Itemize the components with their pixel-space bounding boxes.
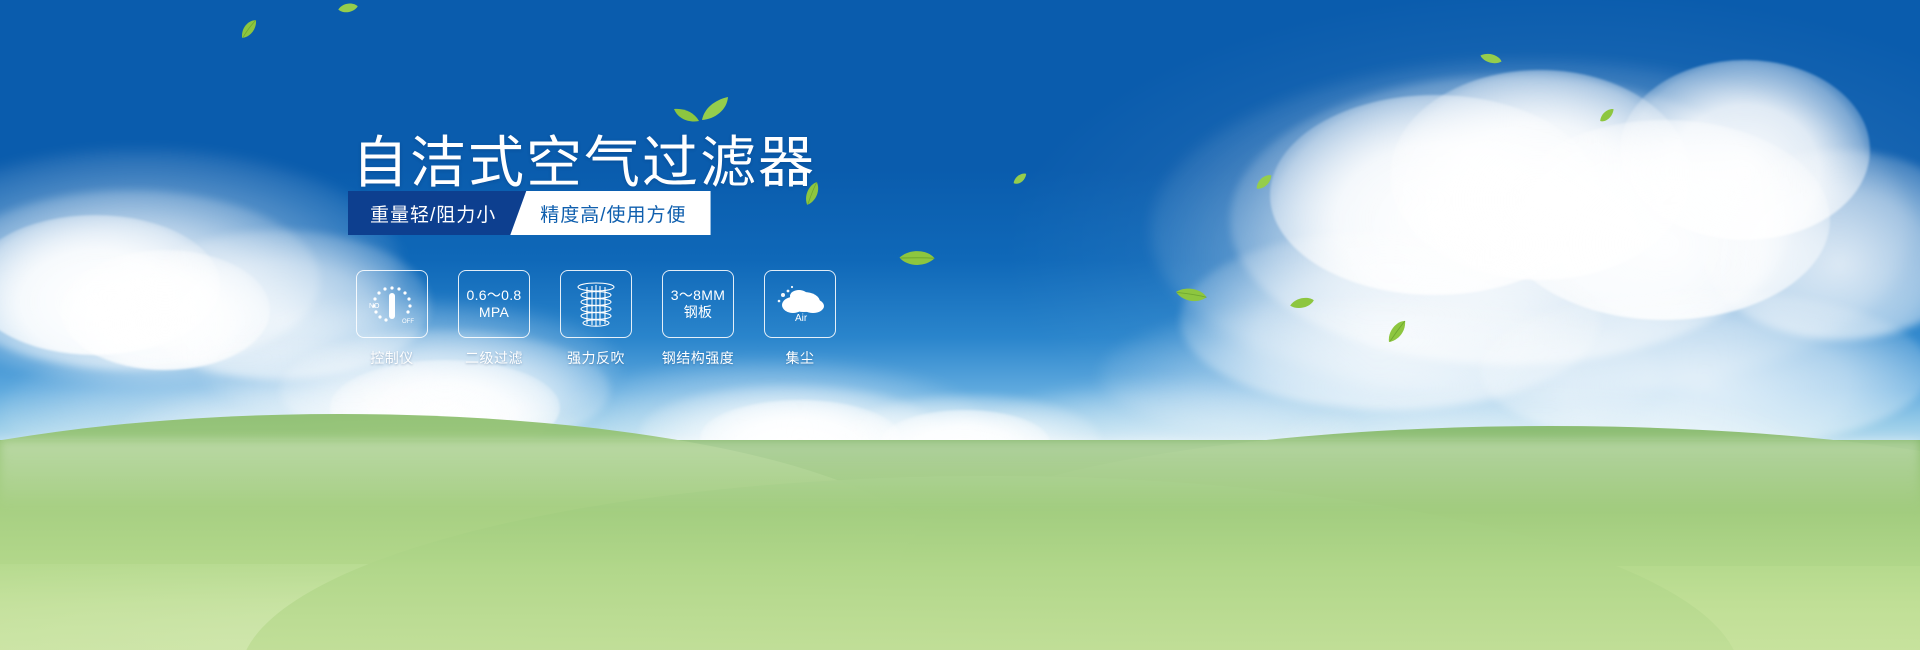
air-label: Air bbox=[795, 313, 808, 324]
feature-tabs: 重量轻/阻力小 精度高/使用方便 bbox=[348, 191, 711, 235]
feature-item-two-stage-filtration[interactable]: 0.6〜0.8 MPA 二级过滤 bbox=[458, 270, 530, 368]
control-dial-icon: NO OFF bbox=[366, 279, 418, 329]
feature-box: 3〜8MM 钢板 bbox=[662, 270, 734, 338]
feature-label: 强力反吹 bbox=[567, 348, 625, 368]
feature-item-dust-collection[interactable]: Air 集尘 bbox=[764, 270, 836, 368]
tab-high-precision-easy-use[interactable]: 精度高/使用方便 bbox=[510, 191, 710, 235]
dial-on-label: NO bbox=[369, 303, 380, 310]
feature-label: 集尘 bbox=[786, 348, 815, 368]
dial-off-label: OFF bbox=[402, 319, 414, 325]
feature-box-text-line1: 3〜8MM bbox=[671, 287, 725, 304]
feature-box: NO OFF bbox=[356, 270, 428, 338]
feature-box: 0.6〜0.8 MPA bbox=[458, 270, 530, 338]
tab-lightweight-low-resistance[interactable]: 重量轻/阻力小 bbox=[348, 191, 526, 235]
product-banner: 自洁式空气过滤器 重量轻/阻力小 精度高/使用方便 bbox=[0, 0, 1920, 650]
feature-box: Air bbox=[764, 270, 836, 338]
feature-box-text-line2: MPA bbox=[479, 304, 509, 321]
filter-cartridge-icon bbox=[573, 279, 619, 329]
feature-label: 控制仪 bbox=[370, 348, 414, 368]
feature-box-text-line2: 钢板 bbox=[684, 304, 713, 321]
feature-icon-list: NO OFF 控制仪 0.6〜0.8 MPA 二级过滤 bbox=[356, 270, 836, 368]
feature-item-steel-strength[interactable]: 3〜8MM 钢板 钢结构强度 bbox=[662, 270, 734, 368]
feature-item-strong-backblow[interactable]: 强力反吹 bbox=[560, 270, 632, 368]
dust-cloud-icon: Air bbox=[774, 282, 826, 326]
feature-label: 二级过滤 bbox=[465, 348, 523, 368]
page-title: 自洁式空气过滤器 bbox=[352, 118, 816, 199]
feature-box bbox=[560, 270, 632, 338]
feature-label: 钢结构强度 bbox=[662, 348, 735, 368]
feature-box-text-line1: 0.6〜0.8 bbox=[466, 287, 521, 304]
feature-item-controller[interactable]: NO OFF 控制仪 bbox=[356, 270, 428, 368]
